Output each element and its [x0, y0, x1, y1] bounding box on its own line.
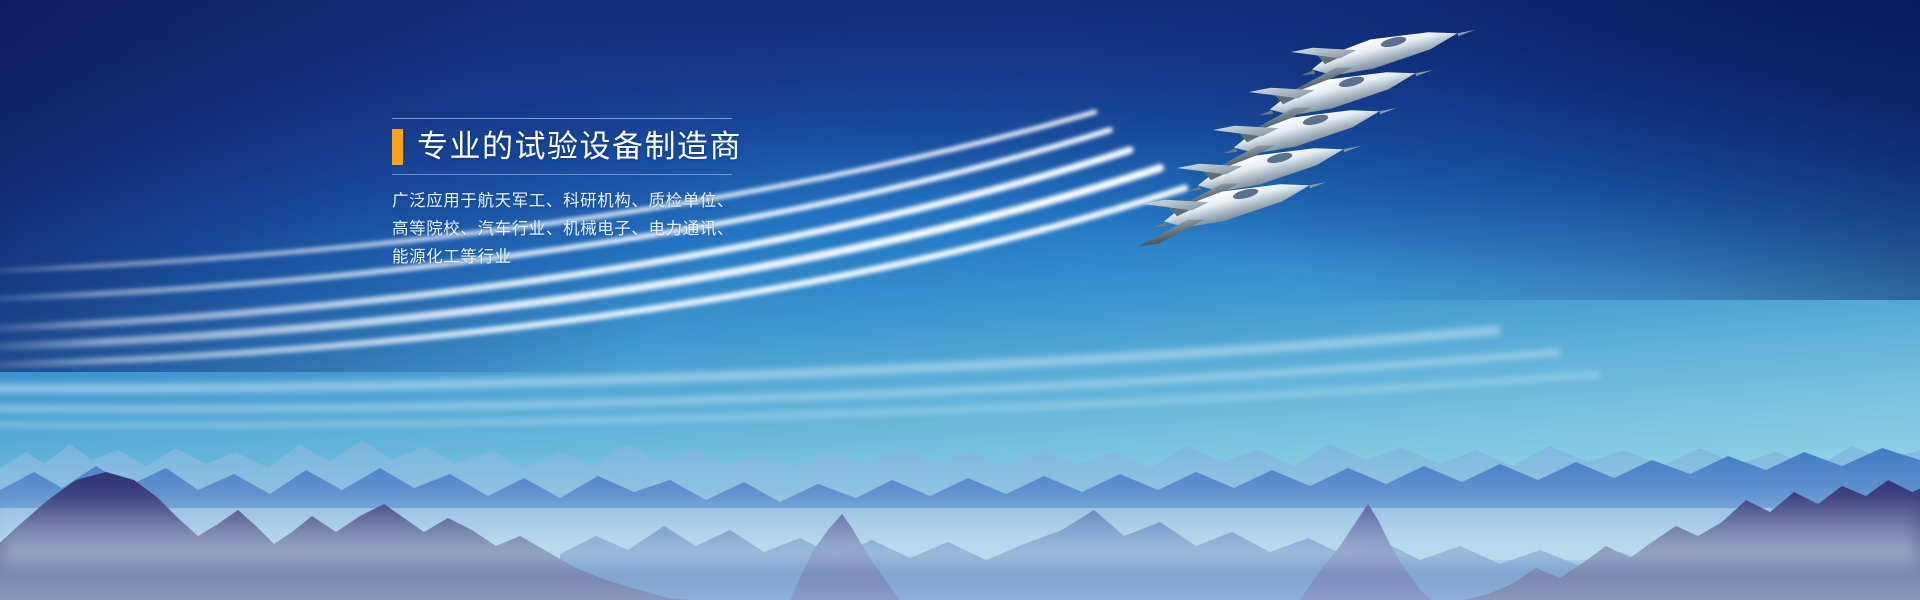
subtitle-line: 能源化工等行业 [392, 243, 732, 271]
mountain-range-group [0, 340, 1920, 600]
headline-row: 专业的试验设备制造商 [392, 119, 732, 174]
subtitle-line: 广泛应用于航天军工、科研机构、质检单位、 [392, 187, 732, 215]
banner-copy: 专业的试验设备制造商 广泛应用于航天军工、科研机构、质检单位、 高等院校、汽车行… [392, 118, 732, 271]
subtitle-block: 广泛应用于航天军工、科研机构、质检单位、 高等院校、汽车行业、机械电子、电力通讯… [392, 175, 732, 271]
jet-formation [1120, 36, 1540, 286]
hero-banner: 专业的试验设备制造商 广泛应用于航天军工、科研机构、质检单位、 高等院校、汽车行… [0, 0, 1920, 600]
page-title: 专业的试验设备制造商 [417, 132, 742, 163]
subtitle-line: 高等院校、汽车行业、机械电子、电力通讯、 [392, 215, 732, 243]
accent-bar [392, 129, 403, 165]
